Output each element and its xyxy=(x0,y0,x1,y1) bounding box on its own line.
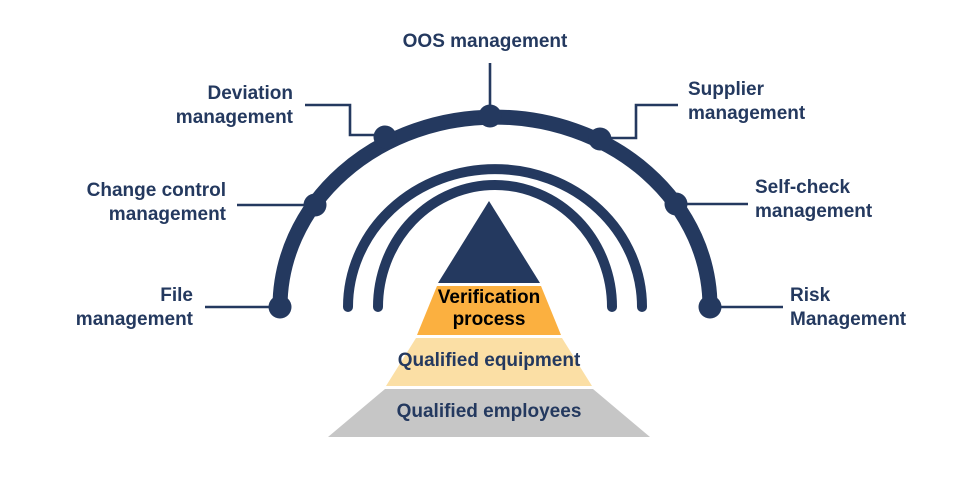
arc-label-oos-management[interactable]: OOS management xyxy=(390,30,580,54)
leader-line-supplier-management xyxy=(600,105,678,138)
node-deviation-management[interactable] xyxy=(374,126,397,149)
pyramid-tier-apex[interactable] xyxy=(438,201,540,283)
diagram-graphics xyxy=(0,0,975,482)
arc-label-supplier-management[interactable]: Supplier management xyxy=(688,78,888,126)
arc-label-risk-management[interactable]: Risk Management xyxy=(790,284,970,332)
node-oos-management[interactable] xyxy=(479,105,502,128)
arc-label-self-check-management[interactable]: Self-check management xyxy=(755,176,955,224)
node-supplier-management[interactable] xyxy=(589,128,612,151)
node-change-control-management[interactable] xyxy=(304,194,327,217)
pyramid-group xyxy=(328,201,650,437)
node-file-management[interactable] xyxy=(269,296,292,319)
pyramid-tier-verification-process[interactable] xyxy=(417,286,561,335)
diagram-canvas: OOS management Deviation management Supp… xyxy=(0,0,975,482)
pyramid-tier-qualified-employees[interactable] xyxy=(328,389,650,437)
node-self-check-management[interactable] xyxy=(665,193,688,216)
arc-label-deviation-management[interactable]: Deviation management xyxy=(93,82,293,130)
arc-label-change-control-management[interactable]: Change control management xyxy=(38,179,226,227)
arc-label-file-management[interactable]: File management xyxy=(28,284,193,332)
node-risk-management[interactable] xyxy=(699,296,722,319)
pyramid-tier-qualified-equipment[interactable] xyxy=(386,338,592,386)
leader-line-deviation-management xyxy=(305,105,385,135)
